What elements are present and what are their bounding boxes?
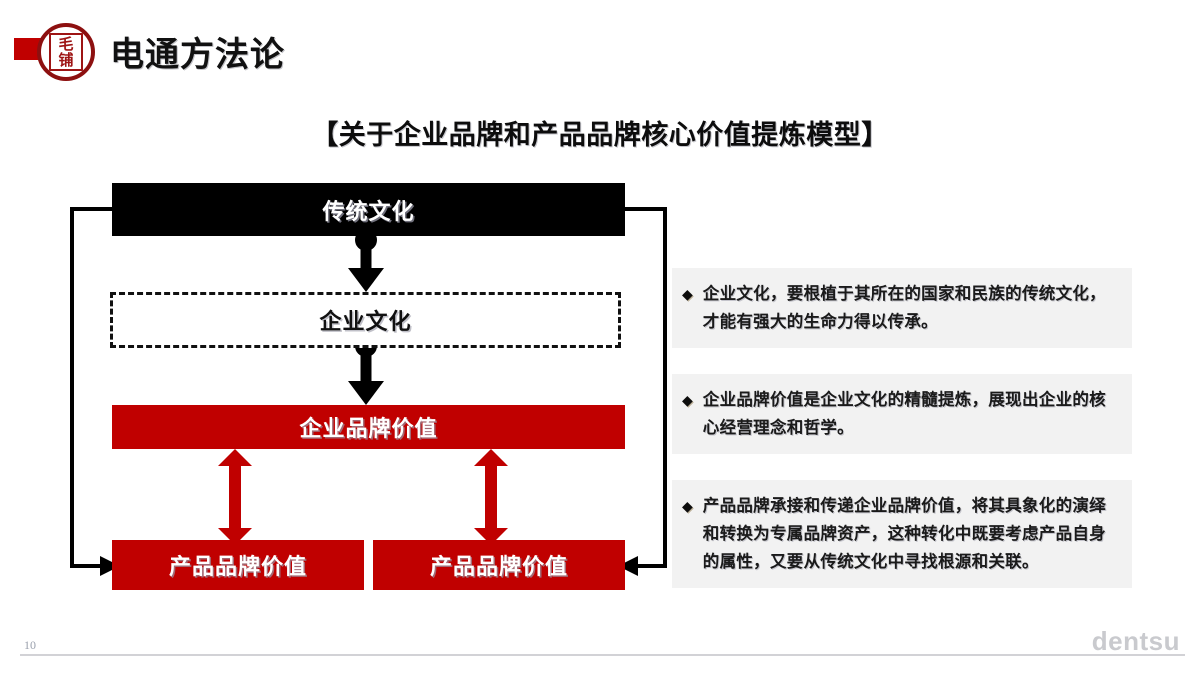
slide: 毛 铺 电通方法论 【关于企业品牌和产品品牌核心价值提炼模型】 [0, 0, 1200, 675]
bullet-panel-2: ◆ 企业品牌价值是企业文化的精髓提炼，展现出企业的核心经营理念和哲学。 [672, 374, 1132, 454]
seal-char-1: 毛 [58, 37, 73, 52]
maopu-seal-logo: 毛 铺 [37, 23, 95, 81]
bullet-text-2: 企业品牌价值是企业文化的精髓提炼，展现出企业的核心经营理念和哲学。 [703, 386, 1118, 442]
node-product-brand-value-left[interactable]: 产品品牌价值 [112, 540, 364, 590]
diamond-bullet-icon: ◆ [682, 492, 693, 520]
bullet-text-1: 企业文化，要根植于其所在的国家和民族的传统文化，才能有强大的生命力得以传承。 [703, 280, 1118, 336]
arrow-corpbrand-to-prodbrand-left [218, 449, 252, 545]
arrow-corpbrand-to-prodbrand-right [474, 449, 508, 545]
dentsu-logo: dentsu [1092, 626, 1180, 657]
diamond-bullet-icon: ◆ [682, 386, 693, 414]
arrow-traditional-to-corpculture [348, 229, 384, 292]
bullet-panel-1: ◆ 企业文化，要根植于其所在的国家和民族的传统文化，才能有强大的生命力得以传承。 [672, 268, 1132, 348]
right-feedback-connector [625, 209, 665, 566]
node-corporate-brand-value[interactable]: 企业品牌价值 [112, 405, 625, 449]
bullet-panel-3: ◆ 产品品牌承接和传递企业品牌价值，将其具象化的演绎和转换为专属品牌资产，这种转… [672, 480, 1132, 588]
seal-char-2: 铺 [58, 53, 73, 68]
node-corporate-culture[interactable]: 企业文化 [110, 292, 621, 348]
bullet-panel-list: ◆ 企业文化，要根植于其所在的国家和民族的传统文化，才能有强大的生命力得以传承。… [672, 268, 1132, 588]
node-product-brand-value-right[interactable]: 产品品牌价值 [373, 540, 625, 590]
node-traditional-culture[interactable]: 传统文化 [112, 183, 625, 236]
page-title: 电通方法论 [110, 27, 285, 76]
diamond-bullet-icon: ◆ [682, 280, 693, 308]
footer-divider [20, 654, 1185, 656]
slide-header: 毛 铺 电通方法论 [0, 0, 1200, 96]
page-number: 10 [24, 638, 36, 653]
seal-inner-frame: 毛 铺 [49, 33, 83, 71]
bullet-text-3: 产品品牌承接和传递企业品牌价值，将其具象化的演绎和转换为专属品牌资产，这种转化中… [703, 492, 1118, 576]
left-feedback-connector [72, 209, 112, 566]
slide-subtitle: 【关于企业品牌和产品品牌核心价值提炼模型】 [0, 113, 1200, 152]
